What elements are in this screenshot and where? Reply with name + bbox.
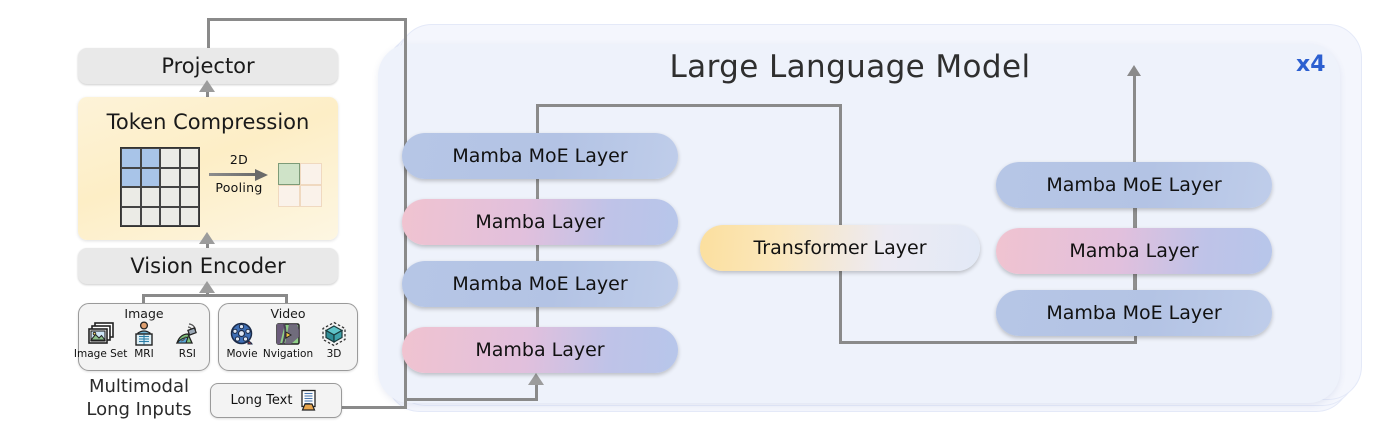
input-arrow-into-left-stack [528,373,544,385]
architecture-diagram: Large Language Model x4 Mamba MoE Layer … [0,0,1384,429]
modality-to-ve-arrow [199,281,215,293]
feedback-top-line [207,18,407,21]
llm-title: Large Language Model [620,46,1080,88]
layer-pill-mamba-moe[interactable]: Mamba MoE Layer [996,290,1272,336]
input-label: MRI [134,348,153,360]
token-compression-title: Token Compression [78,107,338,137]
input-item-navigation[interactable]: Nvigation [267,321,309,360]
long-text-label: Long Text [231,393,293,408]
input-label: Nvigation [263,348,313,360]
layer-pill-mamba-moe[interactable]: Mamba MoE Layer [402,133,678,179]
input-item-image-set[interactable]: Image Set [80,321,122,360]
satellite-icon [173,321,201,347]
input-label: Image Set [74,348,127,360]
multimodal-caption: Multimodal Long Inputs [64,375,214,421]
bottom-bridge-line [839,341,1137,344]
input-label: 3D [327,348,342,360]
image-icon-row: Image Set MRI [79,321,209,360]
map-icon [275,321,301,347]
pooling-arrow-icon [209,169,269,179]
input-bus-horizontal [404,398,538,401]
input-bus-riser [535,384,538,400]
left-stack-stub-3 [536,307,539,327]
token-compression-box[interactable]: Token Compression 2D Pooling [78,97,338,240]
cube-icon [321,321,347,347]
image-set-icon [87,321,115,347]
input-item-movie[interactable]: Movie [221,321,263,360]
pooling-arrow-group: 2D Pooling [206,152,272,222]
pooling-output-grid [278,163,322,207]
top-bridge-line [536,104,842,107]
layer-pill-mamba[interactable]: Mamba Layer [996,228,1272,274]
pooling-label-2d: 2D [206,152,272,167]
layer-pill-mamba[interactable]: Mamba Layer [402,327,678,373]
image-modality-box[interactable]: Image Image Set [78,303,210,371]
feedback-left-drop [207,18,210,48]
left-stack-top-riser [536,104,539,133]
document-icon [297,389,321,413]
mri-icon [131,321,157,347]
layer-pill-mamba[interactable]: Mamba Layer [402,199,678,245]
layer-pill-mamba-moe[interactable]: Mamba MoE Layer [402,261,678,307]
left-stack-stub-2 [536,245,539,261]
output-line [1133,76,1136,162]
layer-pill-transformer[interactable]: Transformer Layer [700,225,980,271]
right-stack-stub-1 [1133,208,1136,228]
video-modality-box[interactable]: Video Movie [218,303,358,371]
video-group-title: Video [219,306,357,321]
vision-encoder-box[interactable]: Vision Encoder [78,248,338,284]
ve-to-tc-arrow [199,232,215,244]
input-item-mri[interactable]: MRI [123,321,165,360]
longtext-to-bus-line [340,406,407,409]
repeat-badge: x4 [1296,52,1326,77]
tc-to-projector-arrow [199,80,215,92]
film-reel-icon [229,321,255,347]
projector-box[interactable]: Projector [78,48,338,84]
right-stack-stub-2 [1133,274,1136,290]
image-group-title: Image [79,306,209,321]
mid-descender-line [839,104,842,344]
input-item-rsi[interactable]: RSI [166,321,208,360]
caption-line-2: Long Inputs [64,398,214,421]
pooling-input-grid [120,147,200,227]
input-label: RSI [179,348,196,360]
output-arrow [1127,65,1141,76]
video-icon-row: Movie Nvigation 3D [219,321,357,360]
modality-branch-horizontal [142,294,288,297]
caption-line-1: Multimodal [64,375,214,398]
left-stack-stub-1 [536,179,539,199]
long-text-box[interactable]: Long Text [210,383,342,418]
input-label: Movie [226,348,257,360]
input-item-3d[interactable]: 3D [313,321,355,360]
pooling-label-pooling: Pooling [206,180,272,195]
layer-pill-mamba-moe[interactable]: Mamba MoE Layer [996,162,1272,208]
